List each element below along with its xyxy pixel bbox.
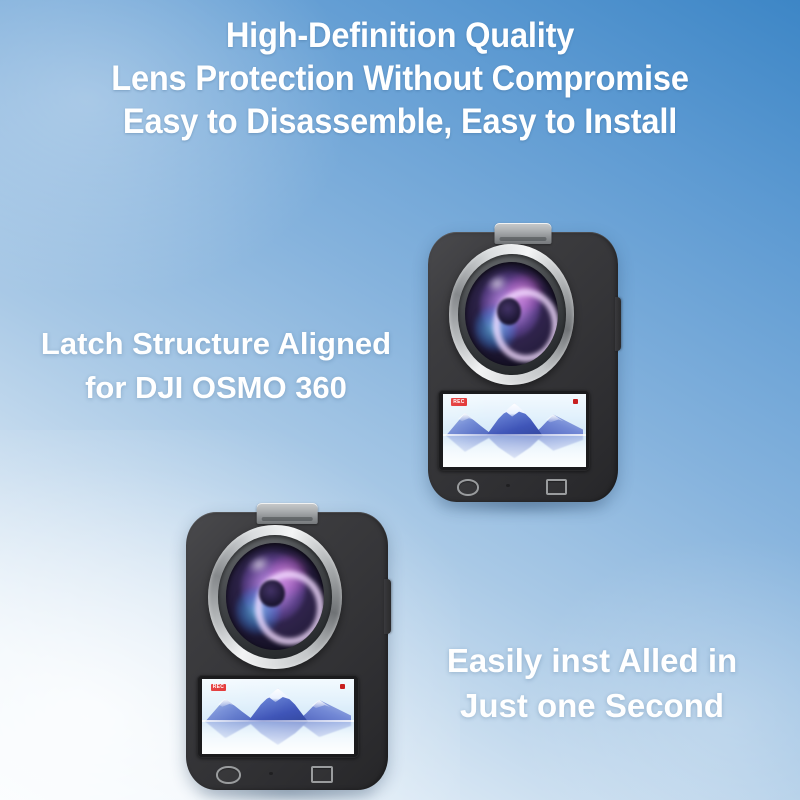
- caption-latch-line-2: for DJI OSMO 360: [10, 366, 422, 410]
- caption-install-line-2: Just one Second: [402, 683, 782, 728]
- screen-water-veil: [202, 721, 355, 754]
- camera-screen-bezel: REC: [438, 390, 590, 471]
- camera-screen-bezel: REC: [197, 675, 359, 758]
- screen-water-veil: [443, 435, 587, 467]
- caption-latch-line-1: Latch Structure Aligned: [10, 322, 422, 366]
- mode-button[interactable]: [311, 766, 333, 783]
- screen-shoreline: [202, 720, 355, 721]
- camera-side-button: [615, 297, 621, 351]
- mode-button[interactable]: [546, 479, 567, 495]
- shutter-button[interactable]: [457, 479, 480, 496]
- headline-line-3: Easy to Disassemble, Easy to Install: [28, 100, 772, 143]
- headline-line-2: Lens Protection Without Compromise: [28, 57, 772, 100]
- product-marketing-poster: High-Definition Quality Lens Protection …: [0, 0, 800, 800]
- lens-aperture-core: [497, 298, 521, 325]
- camera-lens: [208, 525, 341, 670]
- screen-status-dot-icon: [340, 684, 345, 689]
- lens-glass: [465, 262, 558, 366]
- lens-glass: [226, 543, 325, 650]
- rec-indicator: REC: [451, 398, 466, 406]
- rec-indicator: REC: [211, 684, 226, 692]
- screen-shoreline: [443, 434, 587, 435]
- lens-cover-latch: [257, 503, 318, 524]
- shutter-button[interactable]: [216, 766, 240, 783]
- camera-screen: REC: [202, 679, 355, 754]
- caption-latch-structure: Latch Structure Aligned for DJI OSMO 360: [10, 322, 422, 410]
- product-camera-top: REC: [428, 232, 618, 502]
- camera-screen: REC: [443, 394, 587, 467]
- caption-install-line-1: Easily inst Alled in: [402, 638, 782, 683]
- screen-status-dot-icon: [573, 399, 578, 404]
- headline-line-1: High-Definition Quality: [28, 14, 772, 57]
- product-camera-bottom: REC: [186, 512, 388, 790]
- caption-easy-install: Easily inst Alled in Just one Second: [402, 638, 782, 728]
- camera-side-button: [384, 579, 391, 635]
- camera-lens: [449, 244, 574, 384]
- lens-cover-latch: [495, 223, 552, 243]
- headline: High-Definition Quality Lens Protection …: [28, 14, 772, 143]
- lens-aperture-core: [259, 580, 285, 608]
